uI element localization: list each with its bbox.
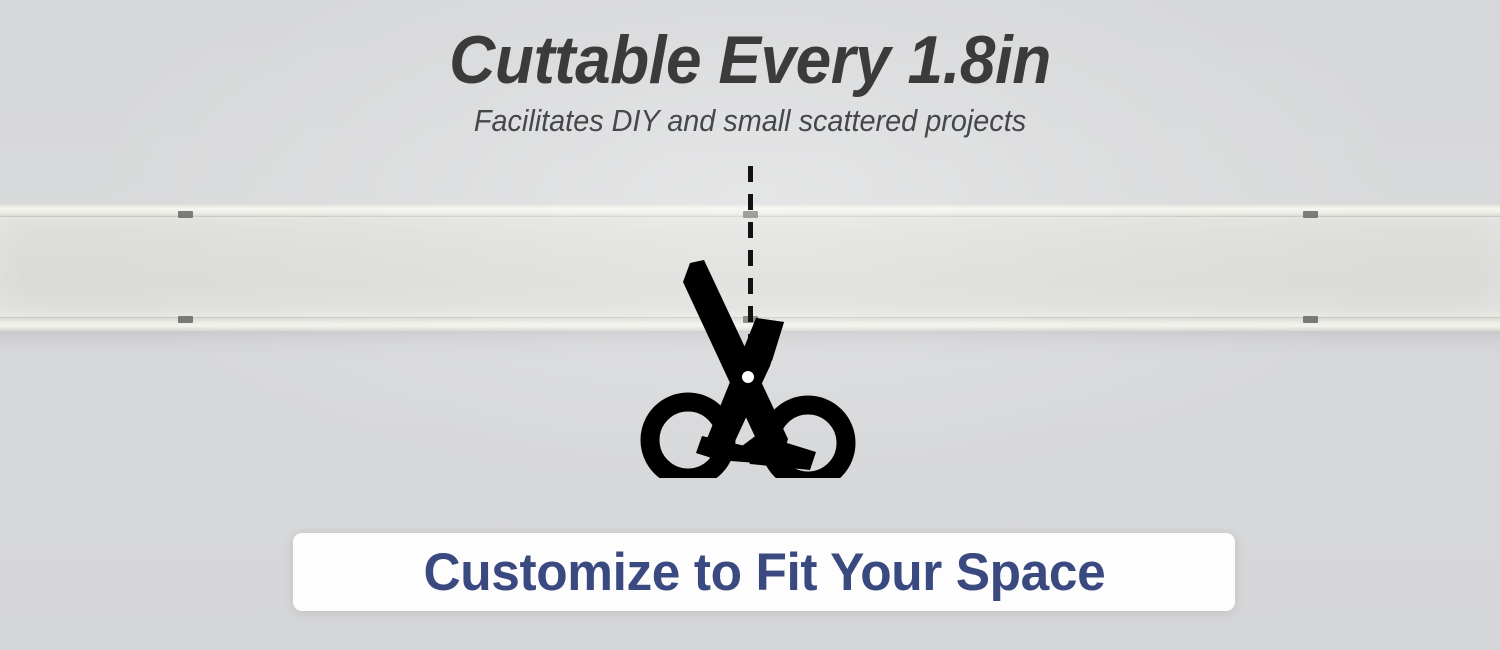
headline-block: Cuttable Every 1.8in Facilitates DIY and…: [0, 26, 1500, 136]
page-title: Cuttable Every 1.8in: [45, 26, 1455, 94]
rail-cut-mark-bottom: [178, 316, 193, 323]
scissors-icon: [638, 256, 858, 478]
rail-cut-mark-top: [1303, 211, 1318, 218]
promo-banner-canvas: Cuttable Every 1.8in Facilitates DIY and…: [0, 0, 1500, 650]
rail-cut-mark-bottom: [1303, 316, 1318, 323]
customize-banner: Customize to Fit Your Space: [293, 533, 1235, 611]
rail-cut-mark-top: [178, 211, 193, 218]
banner-headline: Customize to Fit Your Space: [423, 546, 1105, 599]
page-subtitle: Facilitates DIY and small scattered proj…: [53, 105, 1448, 136]
